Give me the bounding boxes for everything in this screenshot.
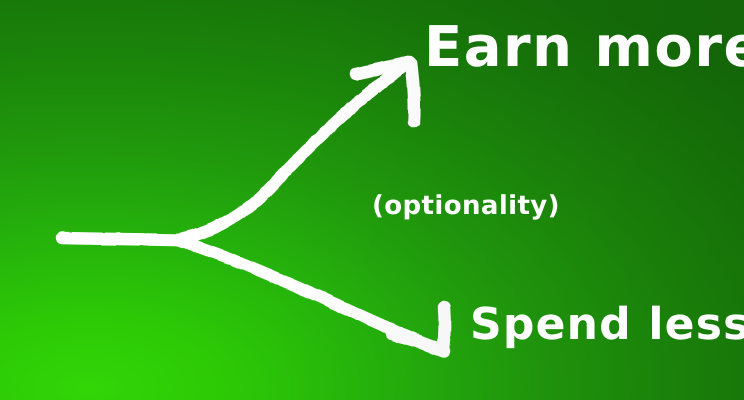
- spend-less-arrowhead-up-barb: [443, 307, 445, 350]
- diagram-canvas: Earn more Spend less (optionality): [0, 0, 744, 400]
- earn-more-arrowhead-down-barb: [411, 63, 414, 122]
- stem-path: [62, 238, 176, 240]
- spend-less-arrowhead-left-barb: [392, 334, 444, 351]
- label-optionality: (optionality): [372, 192, 560, 220]
- label-earn-more: Earn more: [424, 19, 744, 77]
- earn-more-branch-path: [176, 66, 404, 240]
- label-spend-less: Spend less: [470, 302, 744, 348]
